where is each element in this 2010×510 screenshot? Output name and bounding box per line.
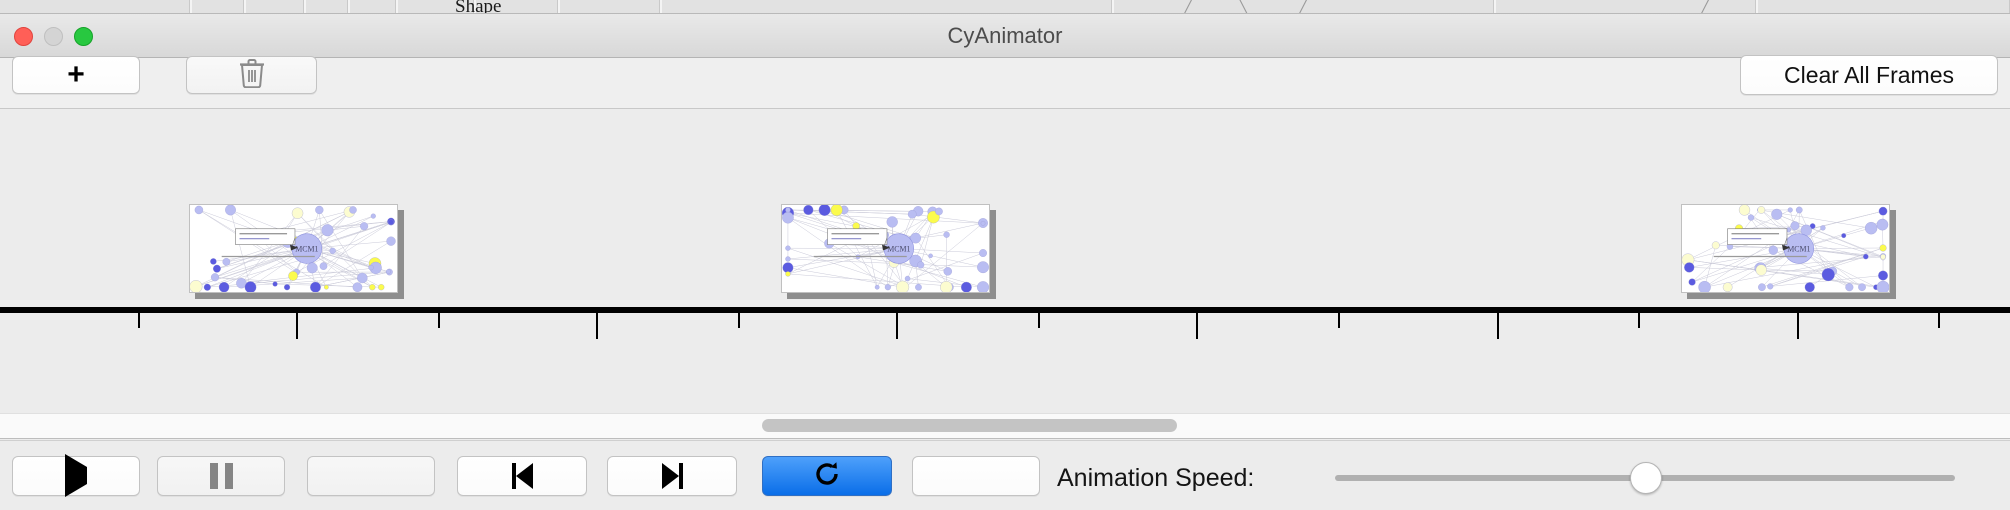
background-window-segment: [560, 0, 660, 14]
timeline-panel[interactable]: MCM1MCM1MCM1 2131415161718 Seconds: [0, 109, 2010, 413]
background-window-segment: [246, 0, 304, 14]
axis-tick-major: [296, 313, 298, 339]
axis-tick-major: [896, 313, 898, 339]
pause-button[interactable]: [157, 456, 285, 496]
axis-tick-major: [596, 313, 598, 339]
delete-frame-button[interactable]: [186, 56, 317, 94]
frame-thumbnail[interactable]: MCM1: [189, 204, 398, 293]
animation-speed-label: Animation Speed:: [1057, 464, 1254, 493]
record-button[interactable]: [912, 456, 1040, 496]
svg-text:MCM1: MCM1: [887, 245, 910, 254]
axis-tick-minor: [138, 313, 140, 328]
loop-button[interactable]: [762, 456, 892, 496]
clear-all-frames-button[interactable]: Clear All Frames: [1740, 55, 1998, 95]
axis-tick-major: [1497, 313, 1499, 339]
window-title: CyAnimator: [0, 14, 2010, 58]
axis-tick-minor: [1338, 313, 1340, 328]
background-window-segment: [192, 0, 244, 14]
background-window-segment: [662, 0, 1112, 14]
frame-thumbnail[interactable]: MCM1: [1681, 204, 1890, 293]
clear-all-frames-label: Clear All Frames: [1784, 62, 1954, 89]
skip-backward-icon: [512, 463, 533, 489]
skip-forward-icon: [662, 463, 683, 489]
add-frame-button[interactable]: +: [12, 56, 140, 94]
background-window-segment: [0, 0, 190, 14]
timeline-scrollbar-thumb[interactable]: [762, 419, 1177, 432]
background-window-segment: [1496, 0, 1756, 14]
timeline-axis: [0, 307, 2010, 313]
axis-tick-minor: [438, 313, 440, 328]
skip-start-button[interactable]: [457, 456, 587, 496]
timeline-frame[interactable]: MCM1: [1681, 204, 1896, 299]
play-icon: [65, 467, 87, 485]
plus-icon: +: [67, 60, 85, 90]
cyanimator-window: Shape ╱ ╲ ╱ ╱ CyAnimator + Clear All Fra…: [0, 0, 2010, 510]
svg-text:MCM1: MCM1: [1787, 245, 1810, 254]
trash-icon: [239, 58, 265, 93]
play-button[interactable]: [12, 456, 140, 496]
axis-tick-major: [1196, 313, 1198, 339]
axis-tick-major: [1797, 313, 1799, 339]
timeline-frame[interactable]: MCM1: [781, 204, 996, 299]
animation-speed-slider-thumb[interactable]: [1630, 462, 1662, 494]
pause-icon: [210, 463, 233, 489]
background-window-segment: [306, 0, 348, 14]
loop-icon: [812, 459, 842, 494]
background-window-label: Shape: [455, 0, 501, 14]
axis-tick-minor: [1038, 313, 1040, 328]
background-window-segment: [350, 0, 396, 14]
skip-end-button[interactable]: [607, 456, 737, 496]
frame-thumbnail[interactable]: MCM1: [781, 204, 990, 293]
axis-tick-minor: [1938, 313, 1940, 328]
stop-button[interactable]: [307, 456, 435, 496]
svg-text:MCM1: MCM1: [295, 245, 318, 254]
axis-tick-minor: [738, 313, 740, 328]
background-window-strip: Shape ╱ ╲ ╱ ╱: [0, 0, 2010, 14]
background-window-segment: [1758, 0, 2010, 14]
axis-tick-minor: [1638, 313, 1640, 328]
timeline-frame[interactable]: MCM1: [189, 204, 404, 299]
